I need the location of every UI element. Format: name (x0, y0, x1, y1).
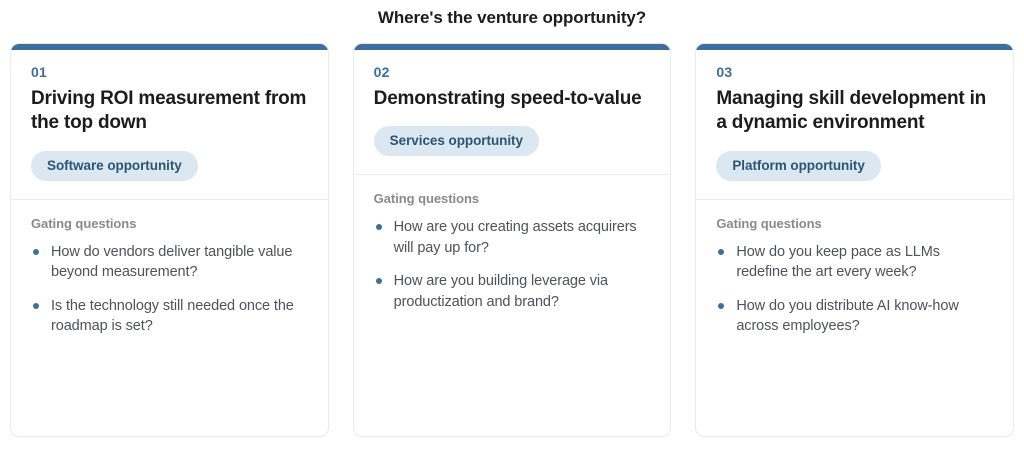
gating-questions-list: How do you keep pace as LLMs redefine th… (716, 242, 993, 337)
opportunity-type-badge: Services opportunity (374, 126, 539, 156)
bullet-icon (718, 303, 724, 309)
card-title: Demonstrating speed-to-value (374, 87, 651, 111)
gating-questions-list: How are you creating assets acquirers wi… (374, 217, 651, 312)
opportunity-card-01[interactable]: 01 Driving ROI measurement from the top … (10, 43, 329, 437)
list-item: How do you keep pace as LLMs redefine th… (716, 242, 993, 283)
bullet-icon (33, 303, 39, 309)
card-body: Gating questions How do you keep pace as… (696, 200, 1013, 436)
gating-questions-list: How do vendors deliver tangible value be… (31, 242, 308, 337)
card-title: Managing skill development in a dynamic … (716, 87, 993, 136)
card-header: 01 Driving ROI measurement from the top … (11, 50, 328, 199)
bullet-icon (33, 249, 39, 255)
gating-questions-label: Gating questions (31, 216, 308, 231)
card-header: 03 Managing skill development in a dynam… (696, 50, 1013, 199)
card-header: 02 Demonstrating speed-to-value Services… (354, 50, 671, 174)
list-item: How are you creating assets acquirers wi… (374, 217, 651, 258)
question-text: How are you building leverage via produc… (394, 273, 608, 310)
venture-opportunity-board: Where's the venture opportunity? 01 Driv… (0, 0, 1024, 467)
question-text: How are you creating assets acquirers wi… (394, 219, 637, 256)
opportunity-type-badge: Platform opportunity (716, 151, 881, 181)
question-text: How do you keep pace as LLMs redefine th… (736, 244, 940, 281)
opportunity-card-03[interactable]: 03 Managing skill development in a dynam… (695, 43, 1014, 437)
bullet-icon (718, 249, 724, 255)
card-body: Gating questions How do vendors deliver … (11, 200, 328, 436)
list-item: How do you distribute AI know-how across… (716, 296, 993, 337)
card-number: 01 (31, 64, 308, 80)
card-title: Driving ROI measurement from the top dow… (31, 87, 308, 136)
card-body: Gating questions How are you creating as… (354, 175, 671, 436)
card-number: 02 (374, 64, 651, 80)
question-text: How do vendors deliver tangible value be… (51, 244, 292, 281)
list-item: How do vendors deliver tangible value be… (31, 242, 308, 283)
opportunity-card-list: 01 Driving ROI measurement from the top … (0, 28, 1024, 437)
question-text: How do you distribute AI know-how across… (736, 298, 958, 335)
opportunity-card-02[interactable]: 02 Demonstrating speed-to-value Services… (353, 43, 672, 437)
page-title: Where's the venture opportunity? (0, 0, 1024, 28)
bullet-icon (376, 278, 382, 284)
opportunity-type-badge: Software opportunity (31, 151, 198, 181)
gating-questions-label: Gating questions (716, 216, 993, 231)
card-number: 03 (716, 64, 993, 80)
bullet-icon (376, 224, 382, 230)
list-item: Is the technology still needed once the … (31, 296, 308, 337)
list-item: How are you building leverage via produc… (374, 271, 651, 312)
gating-questions-label: Gating questions (374, 191, 651, 206)
question-text: Is the technology still needed once the … (51, 298, 294, 335)
